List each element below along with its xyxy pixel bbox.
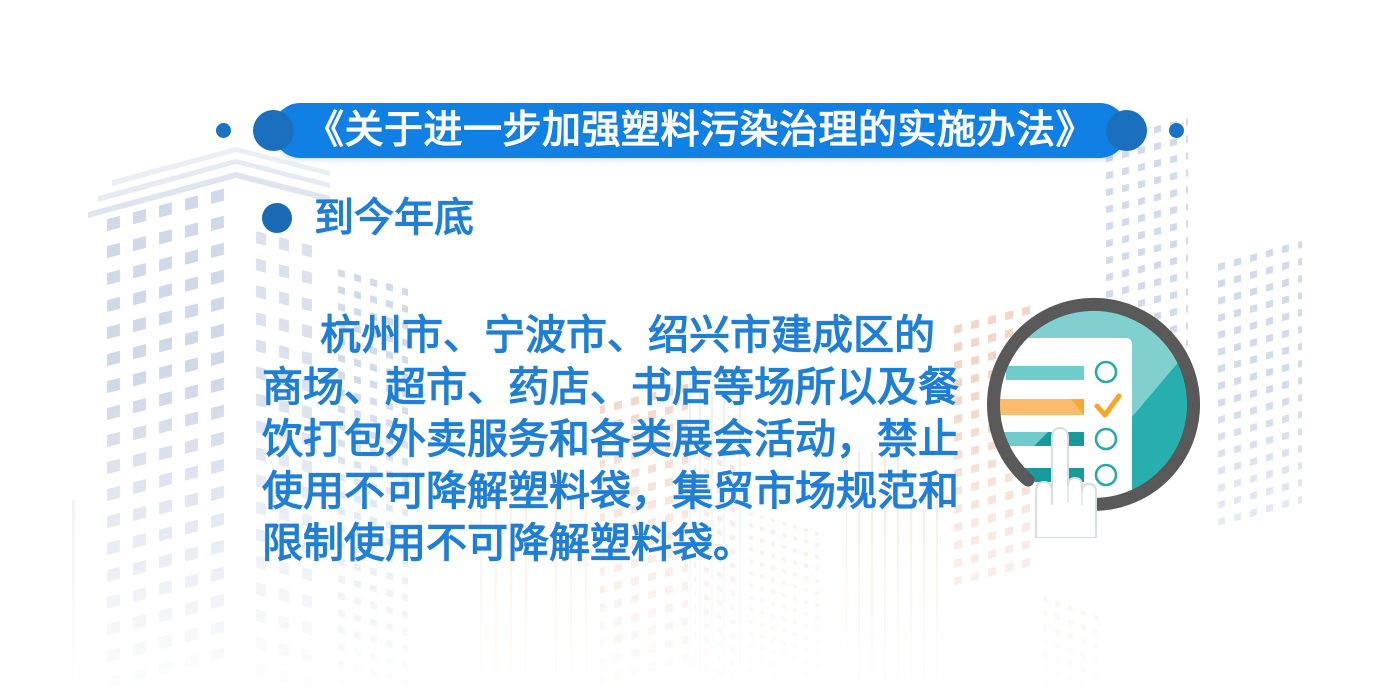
body-paragraph: 杭州市、宁波市、绍兴市建成区的商场、超市、药店、书店等场所以及餐饮打包外卖服务和… bbox=[262, 309, 974, 569]
checklist-circle-illustration bbox=[966, 286, 1218, 538]
decor-dot-small-left bbox=[216, 123, 231, 138]
title-banner-bar: 《关于进一步加强塑料污染治理的实施办法》 bbox=[273, 103, 1127, 158]
tower-right-blue-b bbox=[1212, 240, 1358, 700]
title-banner: 《关于进一步加强塑料污染治理的实施办法》 bbox=[0, 98, 1400, 162]
tower-far-left-line bbox=[72, 500, 75, 700]
poster-canvas: 《关于进一步加强塑料污染治理的实施办法》 到今年底 杭州市、宁波市、绍兴市建成区… bbox=[0, 0, 1400, 700]
decor-dot-small-right bbox=[1169, 123, 1184, 138]
decor-dot-large-right bbox=[1106, 110, 1147, 151]
section-heading-label: 到今年底 bbox=[314, 198, 474, 238]
decor-dot-large-left bbox=[253, 110, 294, 151]
checklist-bar-2 bbox=[992, 399, 1084, 415]
section-heading: 到今年底 bbox=[262, 198, 474, 238]
page-title: 《关于进一步加强塑料污染治理的实施办法》 bbox=[279, 111, 1121, 150]
bullet-icon bbox=[262, 203, 292, 233]
checklist-bar-1 bbox=[1006, 366, 1084, 380]
